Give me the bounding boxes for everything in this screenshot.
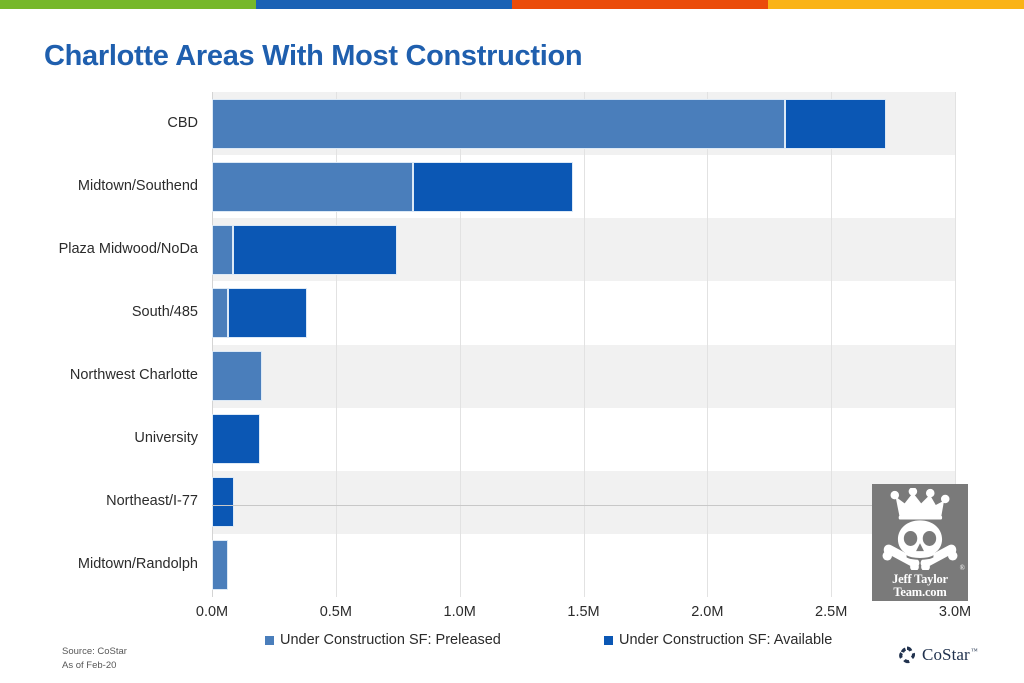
top-bar-segment-orange (512, 0, 768, 9)
legend-swatch-available (604, 636, 613, 645)
source-line-1: Source: CoStar (62, 645, 127, 659)
legend-entry-preleased[interactable]: Under Construction SF: Preleased (265, 632, 501, 648)
plot-area (212, 92, 955, 597)
x-tick-1.5M: 1.5M (567, 604, 599, 620)
bar-segment-preleased[interactable] (212, 225, 233, 275)
bar-row[interactable] (212, 99, 955, 149)
watermark-line-2: Team.com (872, 586, 968, 599)
x-tick-0.0M: 0.0M (196, 604, 228, 620)
legend-label: Under Construction SF: Preleased (280, 632, 501, 648)
category-axis: CBDMidtown/SouthendPlaza Midwood/NoDaSou… (0, 92, 205, 597)
chart-legend: Under Construction SF: PreleasedUnder Co… (0, 632, 1024, 654)
bar-segment-preleased[interactable] (212, 288, 228, 338)
bar-segment-available[interactable] (212, 477, 234, 527)
crowned-skull-crossbones-icon (880, 488, 960, 570)
source-note: Source: CoStar As of Feb-20 (62, 645, 127, 673)
legend-label: Under Construction SF: Available (619, 632, 832, 648)
horizontal-stacked-bar-chart: CBDMidtown/SouthendPlaza Midwood/NoDaSou… (0, 92, 1024, 602)
category-label-south-485: South/485 (0, 304, 205, 320)
top-bar-segment-amber (768, 0, 1024, 9)
jeff-taylor-team-watermark: ® Jeff Taylor Team.com (872, 484, 968, 601)
x-axis-tick-labels: 0.0M0.5M1.0M1.5M2.0M2.5M3.0M (0, 604, 1024, 626)
bar-row[interactable] (212, 540, 955, 590)
bar-segment-preleased[interactable] (212, 351, 262, 401)
bar-segment-available[interactable] (413, 162, 573, 212)
x-axis-line (212, 505, 957, 506)
legend-swatch-preleased (265, 636, 274, 645)
bar-row[interactable] (212, 225, 955, 275)
category-label-cbd: CBD (0, 115, 205, 131)
x-tick-1.0M: 1.0M (444, 604, 476, 620)
top-bar-segment-blue (256, 0, 512, 9)
bar-row[interactable] (212, 351, 955, 401)
costar-trademark-symbol: ™ (971, 647, 978, 655)
x-tick-0.5M: 0.5M (320, 604, 352, 620)
page-title: Charlotte Areas With Most Construction (44, 40, 582, 73)
top-bar-segment-green (0, 0, 256, 9)
bar-row[interactable] (212, 414, 955, 464)
bar-segment-available[interactable] (228, 288, 307, 338)
bar-segment-preleased[interactable] (212, 540, 228, 590)
costar-logo: CoStar™ (897, 645, 978, 665)
decorative-top-color-bar (0, 0, 1024, 9)
watermark-label: Jeff Taylor Team.com (872, 573, 968, 599)
bar-segment-available[interactable] (212, 414, 260, 464)
category-label-university: University (0, 430, 205, 446)
costar-pinwheel-icon (897, 645, 917, 665)
bar-segment-preleased[interactable] (212, 99, 785, 149)
bar-row[interactable] (212, 288, 955, 338)
costar-wordmark: CoStar™ (922, 645, 978, 665)
bar-segment-available[interactable] (785, 99, 886, 149)
category-label-plaza-midwood-noda: Plaza Midwood/NoDa (0, 241, 205, 257)
bar-row[interactable] (212, 477, 955, 527)
x-tick-3.0M: 3.0M (939, 604, 971, 620)
x-tick-2.0M: 2.0M (691, 604, 723, 620)
bar-row[interactable] (212, 162, 955, 212)
category-label-northeast-i-77: Northeast/I-77 (0, 493, 205, 509)
bar-segment-available[interactable] (233, 225, 397, 275)
category-label-midtown-randolph: Midtown/Randolph (0, 556, 205, 572)
watermark-registered-symbol: ® (960, 564, 965, 572)
category-label-northwest-charlotte: Northwest Charlotte (0, 367, 205, 383)
bar-segment-preleased[interactable] (212, 162, 413, 212)
category-label-midtown-southend: Midtown/Southend (0, 178, 205, 194)
legend-entry-available[interactable]: Under Construction SF: Available (604, 632, 832, 648)
source-line-2: As of Feb-20 (62, 659, 127, 673)
x-tick-2.5M: 2.5M (815, 604, 847, 620)
